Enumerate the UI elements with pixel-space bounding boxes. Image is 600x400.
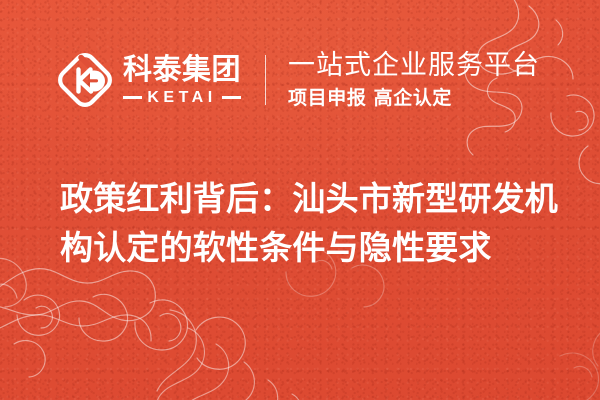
cloud-bottom-right bbox=[560, 330, 600, 400]
banner-title: 政策红利背后：汕头市新型研发机构认定的软性条件与隐性要求 bbox=[60, 174, 566, 272]
brand-logo: 科泰集团 KETAI bbox=[56, 51, 241, 109]
brand-name-cn: 科泰集团 bbox=[123, 55, 241, 84]
brand-name-en: KETAI bbox=[147, 90, 216, 106]
brand-name-en-row: KETAI bbox=[123, 90, 241, 106]
ketai-diamond-monogram-icon bbox=[56, 51, 114, 109]
header-divider bbox=[265, 55, 266, 105]
tagline-secondary: 项目申报 高企认定 bbox=[288, 88, 540, 109]
cloud-bottom-left bbox=[0, 269, 245, 377]
brand-tagline: 一站式企业服务平台 项目申报 高企认定 bbox=[288, 51, 540, 110]
cloud-mid-left-small bbox=[0, 258, 26, 307]
tagline-primary: 一站式企业服务平台 bbox=[288, 51, 540, 81]
wordmark-rule-right bbox=[222, 96, 241, 99]
wordmark-rule-left bbox=[123, 96, 142, 99]
cloud-ribbon-tail bbox=[156, 310, 301, 400]
brand-wordmark: 科泰集团 KETAI bbox=[123, 55, 241, 106]
banner-header: 科泰集团 KETAI 一站式企业服务平台 项目申报 高企认定 bbox=[0, 38, 600, 122]
promo-banner: 科泰集团 KETAI 一站式企业服务平台 项目申报 高企认定 政策红利背后：汕头… bbox=[0, 0, 600, 400]
